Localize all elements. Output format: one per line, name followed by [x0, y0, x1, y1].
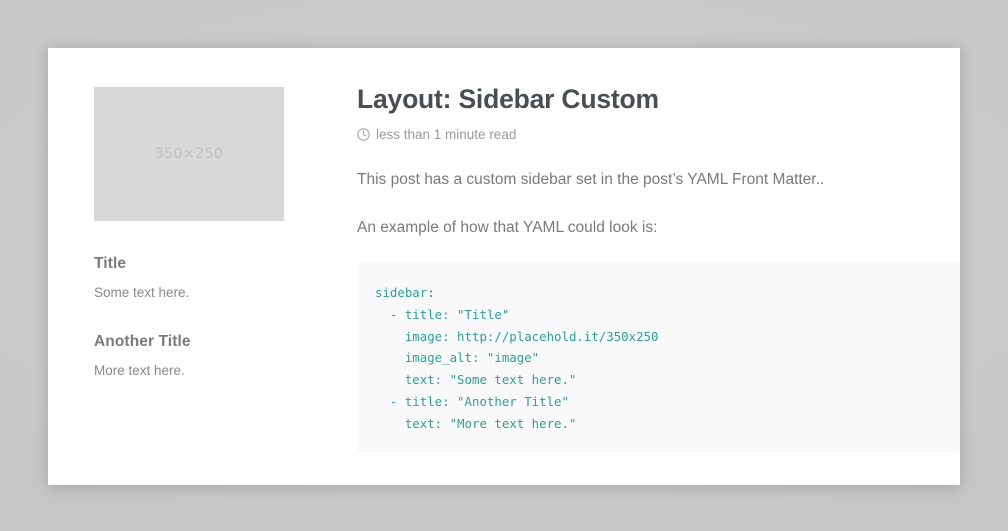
placeholder-dimensions-label: 350×250: [155, 146, 224, 162]
code-line: - title: "Title": [375, 304, 960, 326]
read-time-label: less than 1 minute read: [376, 127, 516, 142]
code-line: text: "More text here.": [375, 413, 960, 435]
code-line-text: image_alt: "image": [405, 350, 539, 365]
code-line: image: http://placehold.it/350x250: [375, 326, 960, 348]
code-content: sidebar: - title: "Title" image: http://…: [375, 282, 960, 435]
code-line-text: sidebar: [375, 285, 427, 300]
code-line-text: - title: "Title": [390, 307, 509, 322]
yaml-code-block: sidebar: - title: "Title" image: http://…: [357, 262, 960, 452]
sidebar-placeholder-image: 350×250: [94, 87, 284, 221]
code-line-punct: :: [427, 285, 434, 300]
sidebar-block-text: Some text here.: [94, 284, 304, 303]
page-title: Layout: Sidebar Custom: [357, 84, 960, 116]
post-paragraph: This post has a custom sidebar set in th…: [357, 168, 960, 191]
sidebar-block-title: Another Title: [94, 333, 304, 351]
post-content: Layout: Sidebar Custom less than 1 minut…: [357, 84, 960, 239]
sidebar-block-0: Title Some text here.: [94, 255, 304, 303]
code-line: sidebar:: [375, 282, 960, 304]
code-line-text: image: http://placehold.it/350x250: [405, 329, 659, 344]
custom-sidebar: 350×250 Title Some text here. Another Ti…: [94, 87, 304, 381]
sidebar-block-title: Title: [94, 255, 304, 273]
post-card: 350×250 Title Some text here. Another Ti…: [48, 48, 960, 485]
code-line-text: text: "More text here.": [405, 416, 577, 431]
code-pre: sidebar: - title: "Title" image: http://…: [357, 262, 960, 435]
sidebar-block-text: More text here.: [94, 362, 304, 381]
sidebar-block-1: Another Title More text here.: [94, 333, 304, 381]
code-line: image_alt: "image": [375, 347, 960, 369]
post-meta: less than 1 minute read: [357, 127, 960, 142]
code-line-text: text: "Some text here.": [405, 372, 577, 387]
code-line-text: - title: "Another Title": [390, 394, 569, 409]
code-line: - title: "Another Title": [375, 391, 960, 413]
post-paragraph: An example of how that YAML could look i…: [357, 216, 960, 239]
code-line: text: "Some text here.": [375, 369, 960, 391]
post-card-inner: 350×250 Title Some text here. Another Ti…: [48, 48, 960, 485]
clock-icon: [357, 128, 370, 141]
